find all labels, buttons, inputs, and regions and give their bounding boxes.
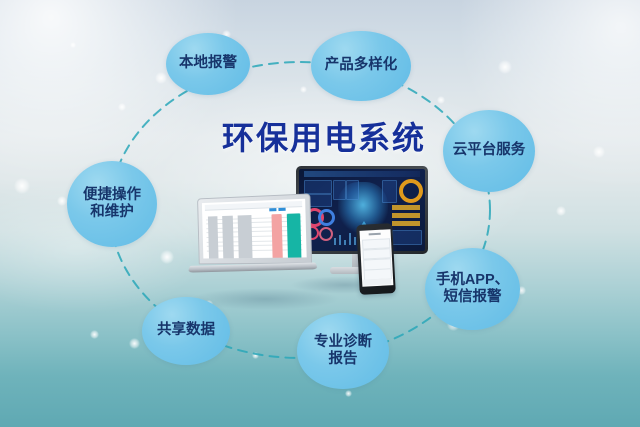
gauge-chart [399,179,423,203]
bokeh-dot [300,86,307,93]
table-cell [209,243,219,258]
table-cell [223,243,235,259]
poster-canvas: 环保用电系统 本地报警 产品多样化 云平台服务 手机APP、 短信报警 专业诊断… [0,0,640,427]
bokeh-dot [14,178,30,194]
laptop-screen-table [202,199,307,259]
bokeh-dot [155,72,167,84]
laptop [187,194,317,281]
app-header-line [369,233,380,236]
bokeh-dot [593,146,605,158]
node-cloud-platform-service[interactable]: 云平台服务 [443,110,535,192]
bokeh-dot [118,103,126,111]
laptop-lid [197,193,312,264]
bokeh-dot [90,330,99,339]
node-label: 共享数据 [155,322,217,339]
bokeh-dot [57,196,67,206]
bar-chart-bar [344,240,346,246]
dashboard-panel [333,180,346,200]
status-chip [272,242,284,258]
bokeh-dot [160,250,174,264]
device-cluster [180,160,440,320]
node-label: 产品多样化 [323,57,400,74]
node-professional-diagnostic-report[interactable]: 专业诊断 报告 [297,313,389,389]
dashboard-list-row [392,221,420,226]
bokeh-dot [498,60,512,74]
donut-chart [318,209,335,226]
node-label: 专业诊断 报告 [312,334,374,368]
bokeh-dot [345,390,352,397]
toolbar-button[interactable] [278,208,286,212]
bokeh-dot [437,96,445,104]
bokeh-dot [252,352,259,359]
bokeh-dot [70,42,76,48]
dashboard-panel [382,180,397,203]
node-mobile-app-sms-alarm[interactable]: 手机APP、 短信报警 [425,248,520,330]
bar-chart-bar [349,233,351,245]
bokeh-dot [556,206,566,216]
node-easy-operation-maintenance[interactable]: 便捷操作 和维护 [67,161,157,247]
node-label: 云平台服务 [451,142,528,159]
dashboard-list-row [392,213,420,218]
app-bottom-nav[interactable] [363,278,392,285]
dashboard-list-row [392,205,420,210]
node-label: 本地报警 [177,55,239,72]
dashboard-panel [304,180,332,194]
page-title: 环保用电系统 [222,113,452,159]
node-product-diversification[interactable]: 产品多样化 [311,31,411,101]
dashboard-panel [346,180,359,200]
donut-chart [319,227,333,241]
node-label: 便捷操作 和维护 [81,187,143,221]
smartphone [356,223,396,295]
phone-body [356,223,396,295]
action-chip[interactable] [288,242,302,259]
node-shared-data[interactable]: 共享数据 [142,297,230,365]
bar-chart-bar [334,238,336,245]
node-label: 手机APP、 短信报警 [434,272,511,306]
phone-screen-app [359,229,393,287]
dashboard-panel [392,230,422,245]
dashboard-header [304,171,420,177]
node-local-alarm[interactable]: 本地报警 [166,33,250,95]
bar-chart-bar [339,235,341,246]
table-toolbar [205,201,302,211]
bokeh-dot [129,338,140,349]
table-cell [239,243,253,259]
toolbar-button[interactable] [269,208,276,212]
